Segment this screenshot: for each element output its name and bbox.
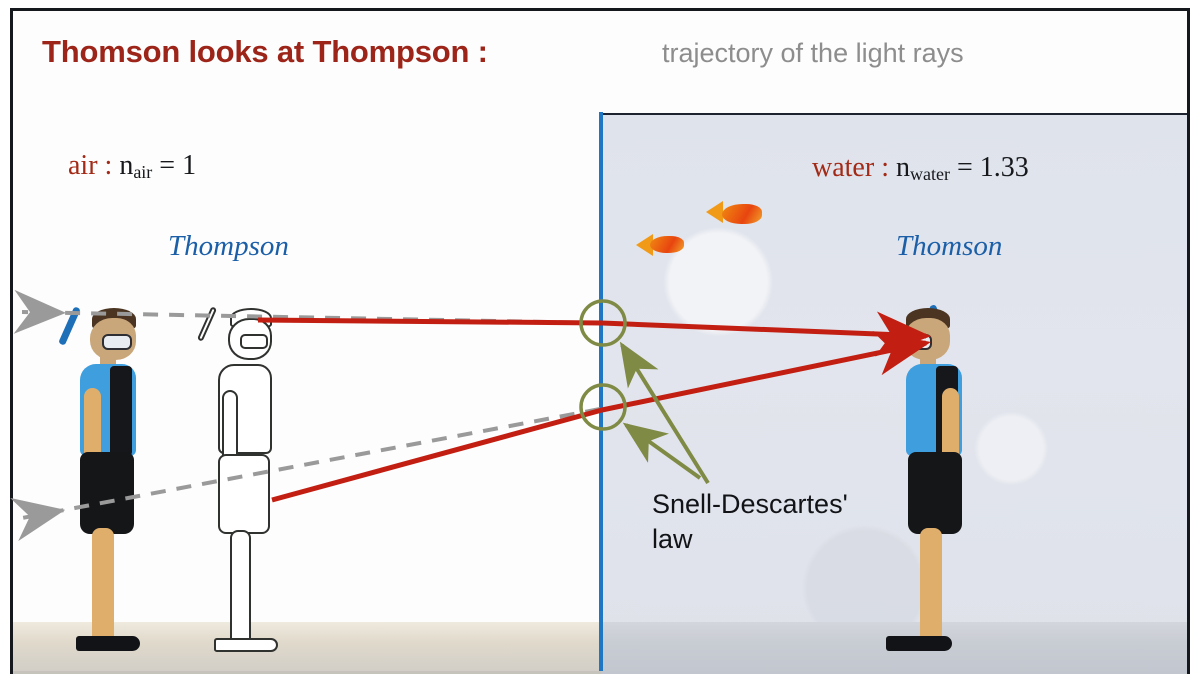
snell-pointer-arrows (622, 345, 708, 483)
ray-upper-in-air (258, 320, 602, 323)
pointer-to-upper-point (622, 345, 708, 483)
diagram-canvas: Thomson looks at Thompson : trajectory o… (0, 0, 1200, 685)
light-ray-overlay (0, 0, 1200, 685)
ray-lower-in-air (272, 410, 602, 500)
snell-descartes-law-label: Snell-Descartes' law (652, 487, 848, 557)
apparent-ray-lower (22, 409, 600, 518)
ray-upper-in-water (602, 323, 926, 336)
ray-lower-in-water (602, 343, 926, 410)
